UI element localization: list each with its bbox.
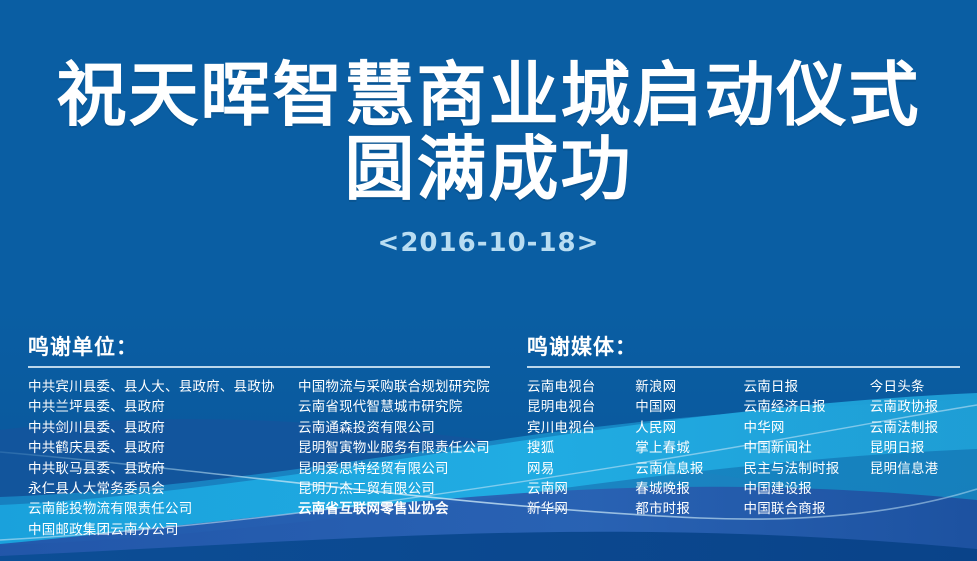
event-date: <2016-10-18>	[0, 228, 977, 258]
media-entry: 云南经济日报	[744, 397, 870, 417]
unit-entry: 昆明智寅物业服务有限责任公司	[298, 438, 490, 458]
media-entry: 中国联合商报	[744, 499, 870, 519]
poster-canvas: 祝天晖智慧商业城启动仪式 圆满成功 <2016-10-18> 鸣谢单位： 中共宾…	[0, 0, 977, 561]
thanks-media-divider	[527, 366, 960, 368]
media-entry: 中华网	[744, 418, 870, 438]
media-entry: 云南网	[527, 479, 635, 499]
media-entry: 今日头条	[870, 377, 960, 397]
unit-entry: 中共兰坪县委、县政府	[28, 397, 298, 417]
units-column-2: 中国物流与采购联合规划研究院 云南省现代智慧城市研究院 云南通森投资有限公司 昆…	[298, 377, 490, 540]
credits-area: 鸣谢单位： 中共宾川县委、县人大、县政府、县政协 中共兰坪县委、县政府 中共剑川…	[0, 334, 977, 561]
media-entry: 都市时报	[635, 499, 743, 519]
media-entry: 人民网	[635, 418, 743, 438]
media-entry: 昆明信息港	[870, 459, 960, 479]
media-entry: 云南政协报	[870, 397, 960, 417]
media-column-1: 云南电视台 昆明电视台 宾川电视台 搜狐 网易 云南网 新华网	[527, 377, 635, 520]
unit-entry: 昆明爱思特经贸有限公司	[298, 459, 490, 479]
unit-entry: 昆明万杰工贸有限公司	[298, 479, 490, 499]
unit-entry: 中国邮政集团云南分公司	[28, 520, 298, 540]
media-entry: 云南日报	[744, 377, 870, 397]
media-entry: 春城晚报	[635, 479, 743, 499]
thanks-units-columns: 中共宾川县委、县人大、县政府、县政协 中共兰坪县委、县政府 中共剑川县委、县政府…	[28, 377, 490, 540]
media-column-2: 新浪网 中国网 人民网 掌上春城 云南信息报 春城晚报 都市时报	[635, 377, 743, 520]
title-block: 祝天晖智慧商业城启动仪式 圆满成功 <2016-10-18>	[0, 58, 977, 258]
unit-entry: 永仁县人大常务委员会	[28, 479, 298, 499]
unit-entry: 云南能投物流有限责任公司	[28, 499, 298, 519]
thanks-media-heading: 鸣谢媒体：	[527, 334, 960, 366]
media-entry: 民主与法制时报	[744, 459, 870, 479]
thanks-media-section: 鸣谢媒体： 云南电视台 昆明电视台 宾川电视台 搜狐 网易 云南网 新华网 新浪…	[527, 334, 960, 520]
thanks-units-heading: 鸣谢单位：	[28, 334, 490, 366]
thanks-media-columns: 云南电视台 昆明电视台 宾川电视台 搜狐 网易 云南网 新华网 新浪网 中国网 …	[527, 377, 960, 520]
media-entry: 网易	[527, 459, 635, 479]
media-entry: 搜狐	[527, 438, 635, 458]
media-entry: 云南电视台	[527, 377, 635, 397]
thanks-units-divider	[28, 366, 490, 368]
media-entry: 掌上春城	[635, 438, 743, 458]
title-line-2: 圆满成功	[0, 132, 977, 206]
unit-entry: 中共鹤庆县委、县政府	[28, 438, 298, 458]
unit-entry: 云南省现代智慧城市研究院	[298, 397, 490, 417]
media-entry: 云南信息报	[635, 459, 743, 479]
media-entry: 新华网	[527, 499, 635, 519]
unit-entry: 中国物流与采购联合规划研究院	[298, 377, 490, 397]
media-entry: 中国新闻社	[744, 438, 870, 458]
unit-entry-highlight: 云南省互联网零售业协会	[298, 499, 490, 519]
media-column-3: 云南日报 云南经济日报 中华网 中国新闻社 民主与法制时报 中国建设报 中国联合…	[744, 377, 870, 520]
unit-entry: 云南通森投资有限公司	[298, 418, 490, 438]
media-entry: 宾川电视台	[527, 418, 635, 438]
unit-entry: 中共剑川县委、县政府	[28, 418, 298, 438]
media-column-4: 今日头条 云南政协报 云南法制报 昆明日报 昆明信息港	[870, 377, 960, 520]
unit-entry: 中共宾川县委、县人大、县政府、县政协	[28, 377, 298, 397]
title-line-1: 祝天晖智慧商业城启动仪式	[0, 58, 977, 132]
unit-entry: 中共耿马县委、县政府	[28, 459, 298, 479]
media-entry: 中国网	[635, 397, 743, 417]
media-entry: 中国建设报	[744, 479, 870, 499]
media-entry: 昆明电视台	[527, 397, 635, 417]
media-entry: 新浪网	[635, 377, 743, 397]
media-entry: 昆明日报	[870, 438, 960, 458]
thanks-units-section: 鸣谢单位： 中共宾川县委、县人大、县政府、县政协 中共兰坪县委、县政府 中共剑川…	[28, 334, 490, 540]
media-entry: 云南法制报	[870, 418, 960, 438]
units-column-1: 中共宾川县委、县人大、县政府、县政协 中共兰坪县委、县政府 中共剑川县委、县政府…	[28, 377, 298, 540]
